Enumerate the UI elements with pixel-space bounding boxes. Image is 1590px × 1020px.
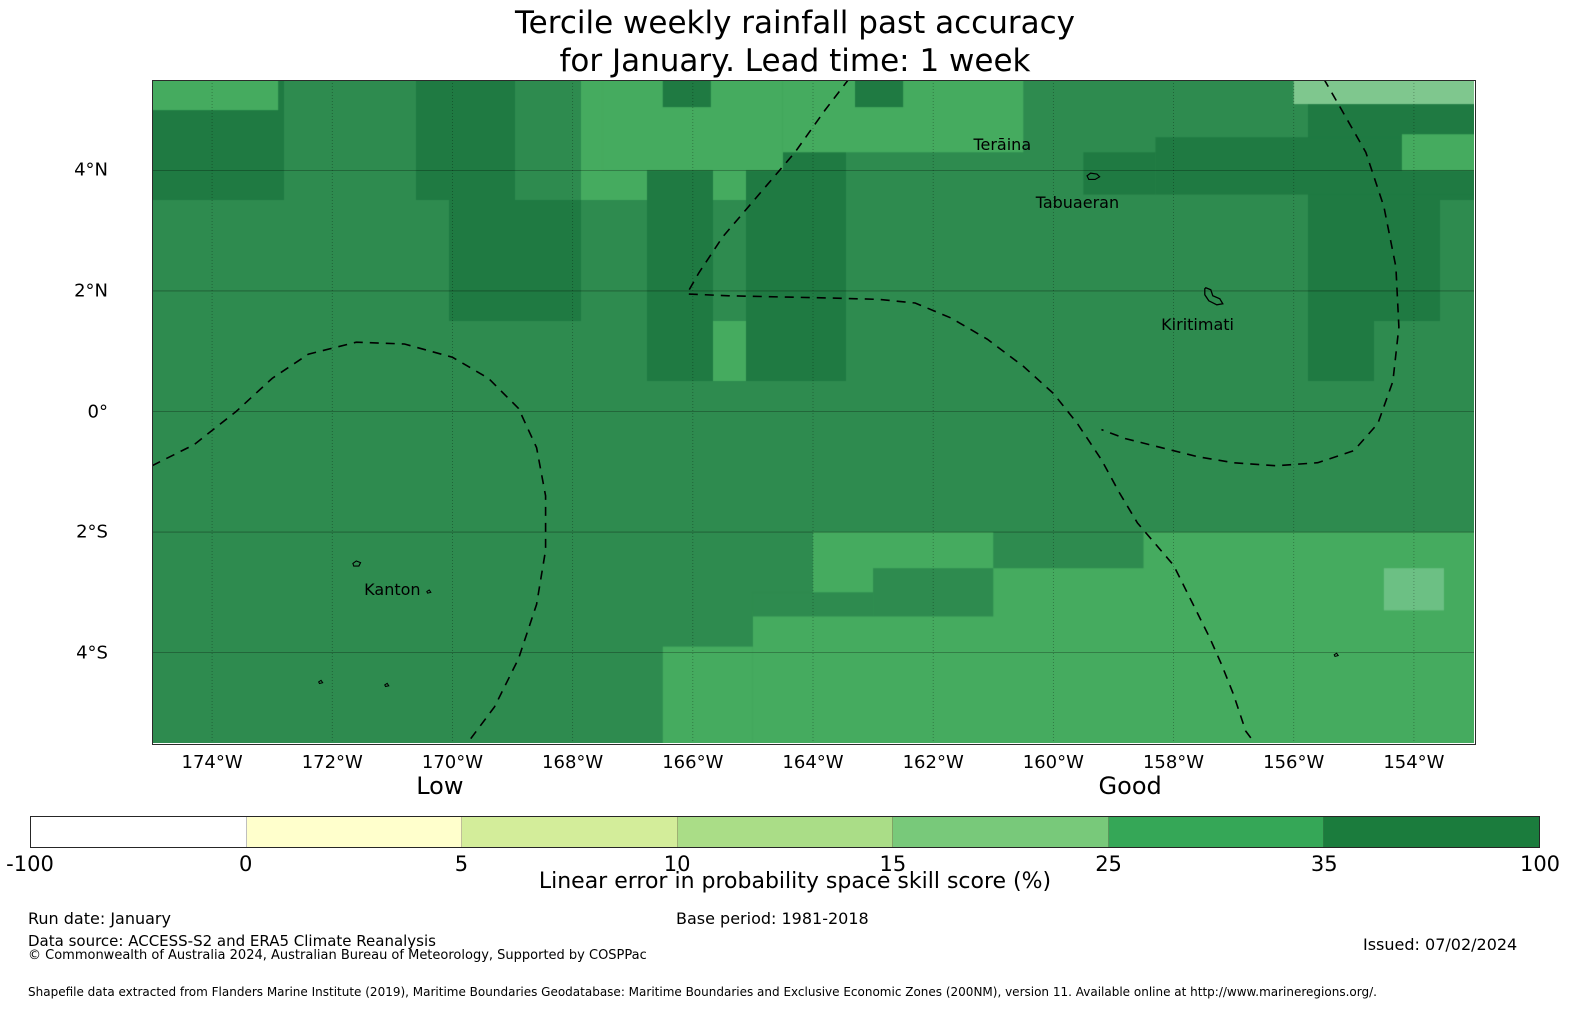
x-axis-tick: 164°W [782, 752, 843, 773]
colorbar[interactable] [30, 816, 1540, 848]
colorbar-segment[interactable] [247, 817, 463, 847]
colorbar-segment[interactable] [893, 817, 1109, 847]
map-overlay [152, 80, 1474, 743]
x-axis-tick: 160°W [1023, 752, 1084, 773]
y-axis-tick: 2°N [74, 280, 108, 301]
island-label: Terāina [973, 135, 1031, 154]
y-axis-tick: 0° [88, 401, 108, 422]
x-axis-tick: 170°W [422, 752, 483, 773]
page-title: Tercile weekly rainfall past accuracy fo… [0, 0, 1590, 80]
y-axis-tick: 4°S [76, 642, 108, 663]
colorbar-segment[interactable] [1324, 817, 1539, 847]
x-axis-tick: 154°W [1383, 752, 1444, 773]
footer-base-period: Base period: 1981-2018 [676, 909, 869, 928]
footer-copyright: © Commonwealth of Australia 2024, Austra… [28, 948, 647, 963]
x-axis-tick: 174°W [182, 752, 243, 773]
island-label: Kanton [364, 580, 420, 599]
y-axis-tick: 4°N [74, 160, 108, 181]
x-axis-tick: 158°W [1143, 752, 1204, 773]
colorbar-quality-label: Good [1099, 772, 1162, 800]
footer-issued-date: Issued: 07/02/2024 [1363, 935, 1517, 954]
island-label: Kiritimati [1161, 315, 1234, 334]
x-axis-tick: 156°W [1263, 752, 1324, 773]
colorbar-segment[interactable] [1109, 817, 1325, 847]
x-axis-tick: 162°W [903, 752, 964, 773]
map-plot-area[interactable] [152, 80, 1474, 743]
title-line-2: for January. Lead time: 1 week [0, 42, 1590, 80]
colorbar-segment[interactable] [462, 817, 678, 847]
colorbar-quality-label: Low [416, 772, 463, 800]
colorbar-axis-label: Linear error in probability space skill … [0, 869, 1590, 894]
footer-run-date: Run date: January [28, 909, 171, 928]
colorbar-segment[interactable] [678, 817, 894, 847]
y-axis-tick: 2°S [76, 522, 108, 543]
footer-shapefile-attribution: Shapefile data extracted from Flanders M… [28, 985, 1377, 999]
x-axis-tick: 166°W [662, 752, 723, 773]
colorbar-segment[interactable] [31, 817, 247, 847]
x-axis-tick: 168°W [542, 752, 603, 773]
island-label: Tabuaeran [1036, 193, 1119, 212]
title-line-1: Tercile weekly rainfall past accuracy [0, 4, 1590, 42]
x-axis-tick: 172°W [302, 752, 363, 773]
